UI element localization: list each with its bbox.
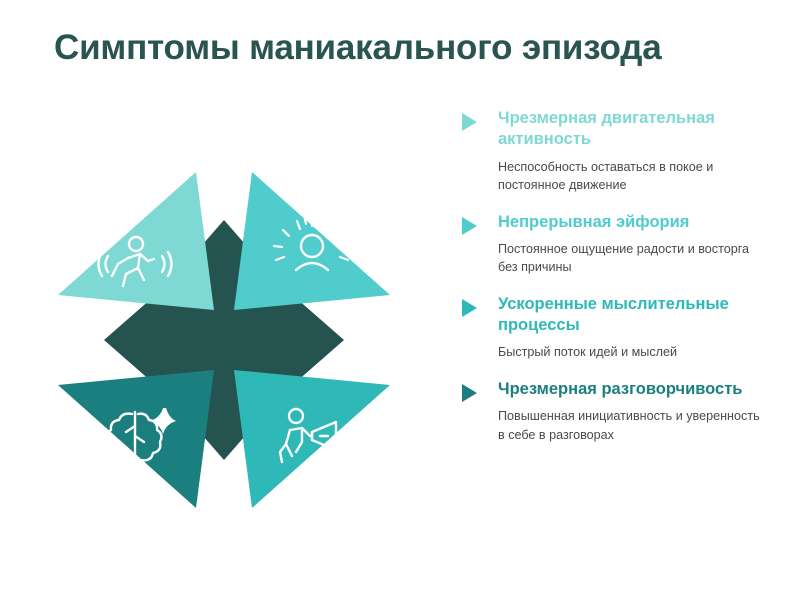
symptom-item: Ускоренные мыслительные процессы Быстрый… (462, 294, 762, 362)
wedge-bottom-right (234, 370, 390, 508)
triangle-marker-icon (462, 217, 477, 235)
symptom-item: Непрерывная эйфория Постоянное ощущение … (462, 212, 762, 277)
symptom-description: Повышенная инициативность и уверенность … (498, 407, 762, 444)
page-title: Симптомы маниакального эпизода (54, 28, 662, 68)
wedge-top-left (58, 172, 214, 310)
triangle-marker-icon (462, 113, 477, 131)
symptom-description: Постоянное ощущение радости и восторга б… (498, 240, 762, 277)
symptom-list: Чрезмерная двигательная активность Неспо… (462, 108, 762, 461)
symptom-heading: Ускоренные мыслительные процессы (498, 294, 762, 337)
symptom-item: Чрезмерная двигательная активность Неспо… (462, 108, 762, 195)
symptom-diagram (44, 160, 404, 520)
symptom-heading: Чрезмерная разговорчивость (498, 379, 762, 400)
symptom-heading: Чрезмерная двигательная активность (498, 108, 762, 151)
wedge-bottom-left (58, 370, 214, 508)
triangle-marker-icon (462, 384, 477, 402)
wedge-top-right (234, 172, 390, 310)
triangle-marker-icon (462, 299, 477, 317)
symptom-heading: Непрерывная эйфория (498, 212, 762, 233)
symptom-item: Чрезмерная разговорчивость Повышенная ин… (462, 379, 762, 444)
symptom-description: Неспособность оставаться в покое и посто… (498, 158, 762, 195)
symptom-description: Быстрый поток идей и мыслей (498, 343, 762, 362)
